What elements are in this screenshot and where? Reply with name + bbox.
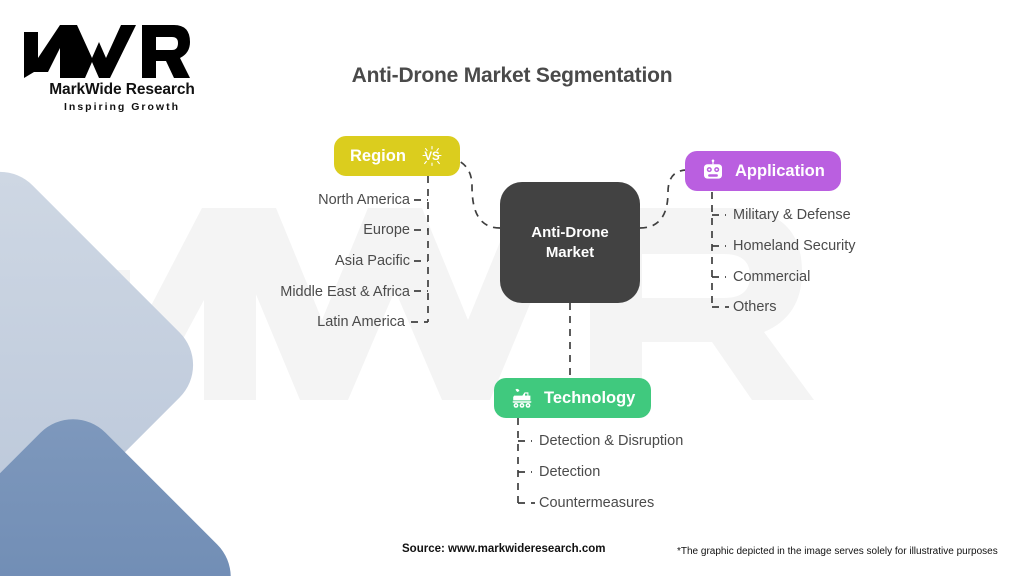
leaf-application-0: Military & Defense — [733, 207, 851, 223]
leaf-application-1: Homeland Security — [733, 238, 856, 254]
sparkle-vs-icon: VS — [420, 144, 444, 168]
center-node-text: Anti-Drone Market — [531, 223, 609, 263]
leaf-region-0: North America — [200, 192, 410, 208]
branch-pill-application[interactable]: Application — [685, 151, 841, 191]
disclaimer-text: *The graphic depicted in the image serve… — [677, 546, 998, 557]
leaf-technology-1: Detection — [539, 464, 600, 480]
rover-vehicle-icon — [510, 386, 534, 410]
wire-center-application — [640, 170, 687, 228]
infographic-canvas: MarkWide Research Inspiring Growth Anti-… — [0, 0, 1024, 576]
branch-label-region: Region — [350, 147, 406, 166]
center-node-line2: Market — [546, 244, 594, 261]
svg-text:VS: VS — [424, 151, 440, 163]
branch-pill-technology[interactable]: Technology — [494, 378, 651, 418]
branch-label-technology: Technology — [544, 389, 635, 408]
leaf-region-1: Europe — [200, 222, 410, 238]
leaf-region-2: Asia Pacific — [200, 253, 410, 269]
robot-face-icon — [701, 159, 725, 183]
center-node-line1: Anti-Drone — [531, 224, 609, 241]
leaf-application-3: Others — [733, 299, 777, 315]
leaf-region-4: Latin America — [200, 314, 405, 330]
leaf-region-3: Middle East & Africa — [200, 284, 410, 300]
leaf-technology-0: Detection & Disruption — [539, 433, 683, 449]
center-node[interactable]: Anti-Drone Market — [500, 182, 640, 303]
branch-pill-region[interactable]: Region VS — [334, 136, 460, 176]
branch-label-application: Application — [735, 162, 825, 181]
leaf-technology-2: Countermeasures — [539, 495, 654, 511]
leaf-application-2: Commercial — [733, 269, 810, 285]
source-text: Source: www.markwideresearch.com — [402, 543, 605, 555]
